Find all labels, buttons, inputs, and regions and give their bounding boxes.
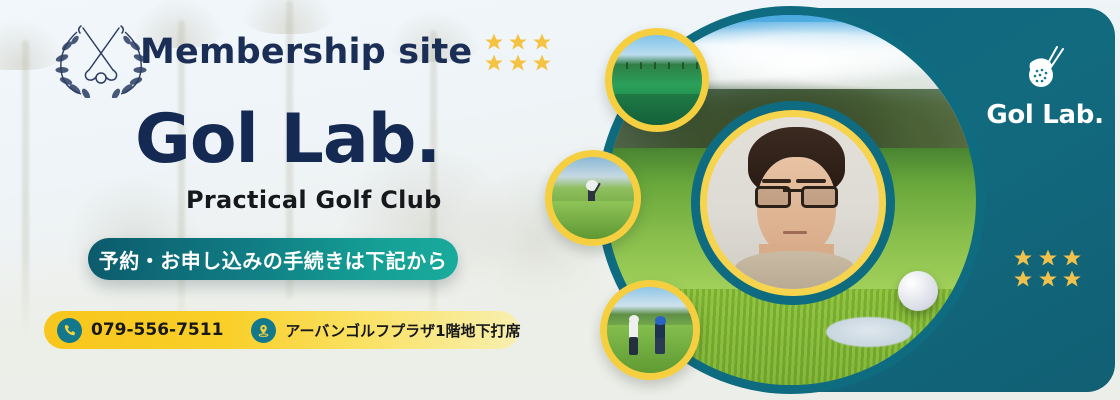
thumbnail-driving-range (605, 28, 709, 132)
star-icon (484, 32, 504, 52)
brand-tagline: Practical Golf Club (186, 186, 442, 214)
star-icon (1062, 248, 1082, 268)
reservation-cta-button[interactable]: 予約・お申し込みの手続きは下記から (88, 238, 458, 280)
brand-logo-right-label: Gol Lab. (985, 100, 1105, 130)
membership-banner: Membership site Gol Lab. Practical Golf … (0, 0, 1120, 400)
left-content: Membership site Gol Lab. Practical Golf … (0, 0, 560, 400)
phone-number[interactable]: 079-556-7511 (91, 320, 223, 340)
rating-stars-top (484, 32, 554, 73)
reservation-cta-label: 予約・お申し込みの手続きは下記から (99, 245, 448, 274)
star-icon (1013, 269, 1033, 289)
contact-info-bar: 079-556-7511 アーバンゴルフプラザ1階地下打席 (44, 311, 519, 349)
instructor-portrait (700, 110, 886, 296)
thumbnail-golfer-teeing-off (545, 150, 641, 246)
star-icon (508, 53, 528, 73)
brand-logo-right: Gol Lab. (985, 45, 1105, 130)
star-icon (484, 53, 504, 73)
star-icon (1038, 269, 1058, 289)
star-icon (1062, 269, 1082, 289)
star-icon (532, 53, 552, 73)
map-pin-icon (251, 318, 276, 343)
star-icon (508, 32, 528, 52)
address-text: アーバンゴルフプラザ1階地下打席 (285, 320, 520, 341)
star-icon (1038, 248, 1058, 268)
rating-stars-right (1013, 248, 1085, 289)
brand-name: Gol Lab. (135, 106, 440, 174)
thumbnail-lesson-on-course (600, 280, 700, 380)
laurel-wreath-golf-clubs-icon (47, 16, 155, 98)
golf-club-ball-icon (1016, 45, 1074, 93)
phone-icon (57, 318, 82, 343)
membership-title: Membership site (140, 32, 472, 72)
star-icon (532, 32, 552, 52)
star-icon (1013, 248, 1033, 268)
